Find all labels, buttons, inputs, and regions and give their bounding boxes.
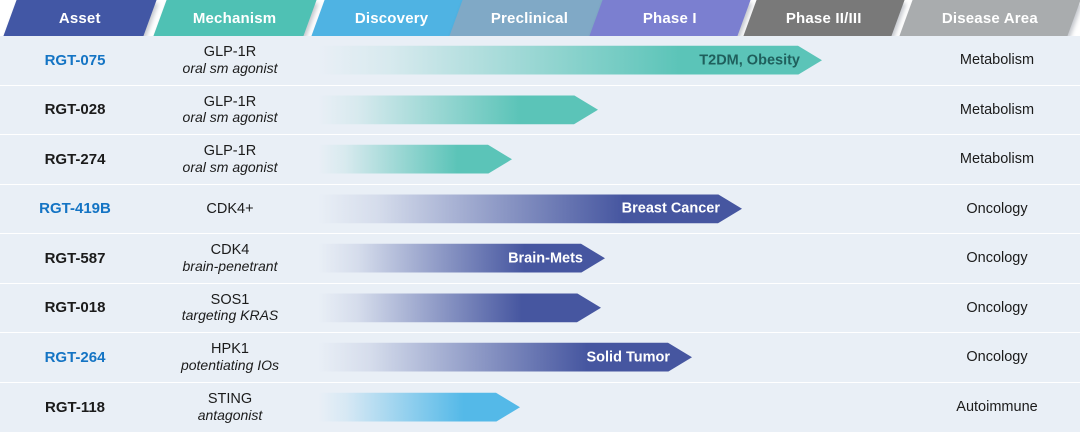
mechanism-subtitle: oral sm agonist bbox=[183, 160, 278, 176]
disease-area: Oncology bbox=[914, 185, 1080, 234]
mechanism-subtitle: oral sm agonist bbox=[183, 61, 278, 77]
table-row[interactable]: RGT-018SOS1targeting KRASOncology bbox=[0, 284, 1080, 334]
header-cell-label: Discovery bbox=[355, 10, 429, 27]
table-row[interactable]: RGT-118STINGantagonistAutoimmune bbox=[0, 383, 1080, 432]
progress-bar[interactable]: T2DM, Obesity bbox=[318, 46, 822, 75]
header-cell-disease-area: Disease Area bbox=[899, 0, 1080, 36]
disease-area: Metabolism bbox=[914, 36, 1080, 85]
mechanism-target: STING bbox=[208, 391, 252, 407]
disease-area: Oncology bbox=[914, 284, 1080, 333]
mechanism-cell: SOS1targeting KRAS bbox=[150, 284, 310, 333]
mechanism-subtitle: oral sm agonist bbox=[183, 110, 278, 126]
pipeline-chart: AssetMechanismDiscoveryPreclinicalPhase … bbox=[0, 0, 1080, 432]
mechanism-target: HPK1 bbox=[211, 341, 249, 357]
mechanism-target: SOS1 bbox=[211, 292, 250, 308]
mechanism-target: CDK4 bbox=[211, 242, 250, 258]
progress-bar[interactable]: Solid Tumor bbox=[318, 343, 692, 372]
asset-name[interactable]: RGT-118 bbox=[0, 383, 150, 432]
pipeline-header: AssetMechanismDiscoveryPreclinicalPhase … bbox=[0, 0, 1080, 36]
header-cell-label: Disease Area bbox=[942, 10, 1038, 27]
asset-name[interactable]: RGT-028 bbox=[0, 86, 150, 135]
header-cell-label: Phase II/III bbox=[786, 10, 862, 27]
table-row[interactable]: RGT-274GLP-1Roral sm agonistMetabolism bbox=[0, 135, 1080, 185]
mechanism-target: GLP-1R bbox=[204, 94, 256, 110]
disease-area: Oncology bbox=[914, 333, 1080, 382]
disease-area: Metabolism bbox=[914, 135, 1080, 184]
mechanism-subtitle: targeting KRAS bbox=[182, 308, 279, 324]
header-cell-label: Asset bbox=[59, 10, 101, 27]
table-row[interactable]: RGT-587CDK4brain-penetrantBrain-MetsOnco… bbox=[0, 234, 1080, 284]
disease-area: Autoimmune bbox=[914, 383, 1080, 432]
table-row[interactable]: RGT-075GLP-1Roral sm agonistT2DM, Obesit… bbox=[0, 36, 1080, 86]
header-cell-phase-ii-iii: Phase II/III bbox=[743, 0, 904, 36]
header-cell-label: Preclinical bbox=[491, 10, 568, 27]
mechanism-target: CDK4+ bbox=[206, 201, 253, 217]
mechanism-cell: CDK4+ bbox=[150, 185, 310, 234]
mechanism-cell: GLP-1Roral sm agonist bbox=[150, 86, 310, 135]
header-cell-phase-i: Phase I bbox=[589, 0, 750, 36]
table-row[interactable]: RGT-419BCDK4+Breast CancerOncology bbox=[0, 185, 1080, 235]
asset-name[interactable]: RGT-587 bbox=[0, 234, 150, 283]
disease-area: Oncology bbox=[914, 234, 1080, 283]
mechanism-subtitle: potentiating IOs bbox=[181, 358, 279, 374]
table-row[interactable]: RGT-028GLP-1Roral sm agonistMetabolism bbox=[0, 86, 1080, 136]
asset-name[interactable]: RGT-264 bbox=[0, 333, 150, 382]
header-cell-label: Mechanism bbox=[193, 10, 277, 27]
mechanism-subtitle: brain-penetrant bbox=[183, 259, 278, 275]
asset-name[interactable]: RGT-075 bbox=[0, 36, 150, 85]
mechanism-cell: STINGantagonist bbox=[150, 383, 310, 432]
indication-label: T2DM, Obesity bbox=[699, 52, 822, 68]
header-cell-asset: Asset bbox=[3, 0, 156, 36]
mechanism-target: GLP-1R bbox=[204, 44, 256, 60]
indication-label: Solid Tumor bbox=[586, 349, 692, 365]
indication-label: Brain-Mets bbox=[508, 250, 605, 266]
asset-name[interactable]: RGT-018 bbox=[0, 284, 150, 333]
mechanism-subtitle: antagonist bbox=[198, 408, 263, 424]
asset-name[interactable]: RGT-274 bbox=[0, 135, 150, 184]
progress-bar[interactable] bbox=[318, 393, 520, 422]
mechanism-cell: HPK1potentiating IOs bbox=[150, 333, 310, 382]
progress-bar[interactable] bbox=[318, 145, 512, 174]
header-cell-discovery: Discovery bbox=[311, 0, 472, 36]
header-cell-mechanism: Mechanism bbox=[153, 0, 316, 36]
mechanism-cell: GLP-1Roral sm agonist bbox=[150, 36, 310, 85]
header-cell-label: Phase I bbox=[643, 10, 697, 27]
header-cell-preclinical: Preclinical bbox=[449, 0, 610, 36]
mechanism-cell: GLP-1Roral sm agonist bbox=[150, 135, 310, 184]
pipeline-rows: RGT-075GLP-1Roral sm agonistT2DM, Obesit… bbox=[0, 36, 1080, 432]
indication-label: Breast Cancer bbox=[622, 201, 742, 217]
mechanism-target: GLP-1R bbox=[204, 143, 256, 159]
asset-name[interactable]: RGT-419B bbox=[0, 185, 150, 234]
mechanism-cell: CDK4brain-penetrant bbox=[150, 234, 310, 283]
progress-bar[interactable] bbox=[318, 95, 598, 124]
disease-area: Metabolism bbox=[914, 86, 1080, 135]
progress-bar[interactable]: Breast Cancer bbox=[318, 194, 742, 223]
table-row[interactable]: RGT-264HPK1potentiating IOsSolid TumorOn… bbox=[0, 333, 1080, 383]
progress-bar[interactable]: Brain-Mets bbox=[318, 244, 605, 273]
progress-bar[interactable] bbox=[318, 293, 601, 322]
